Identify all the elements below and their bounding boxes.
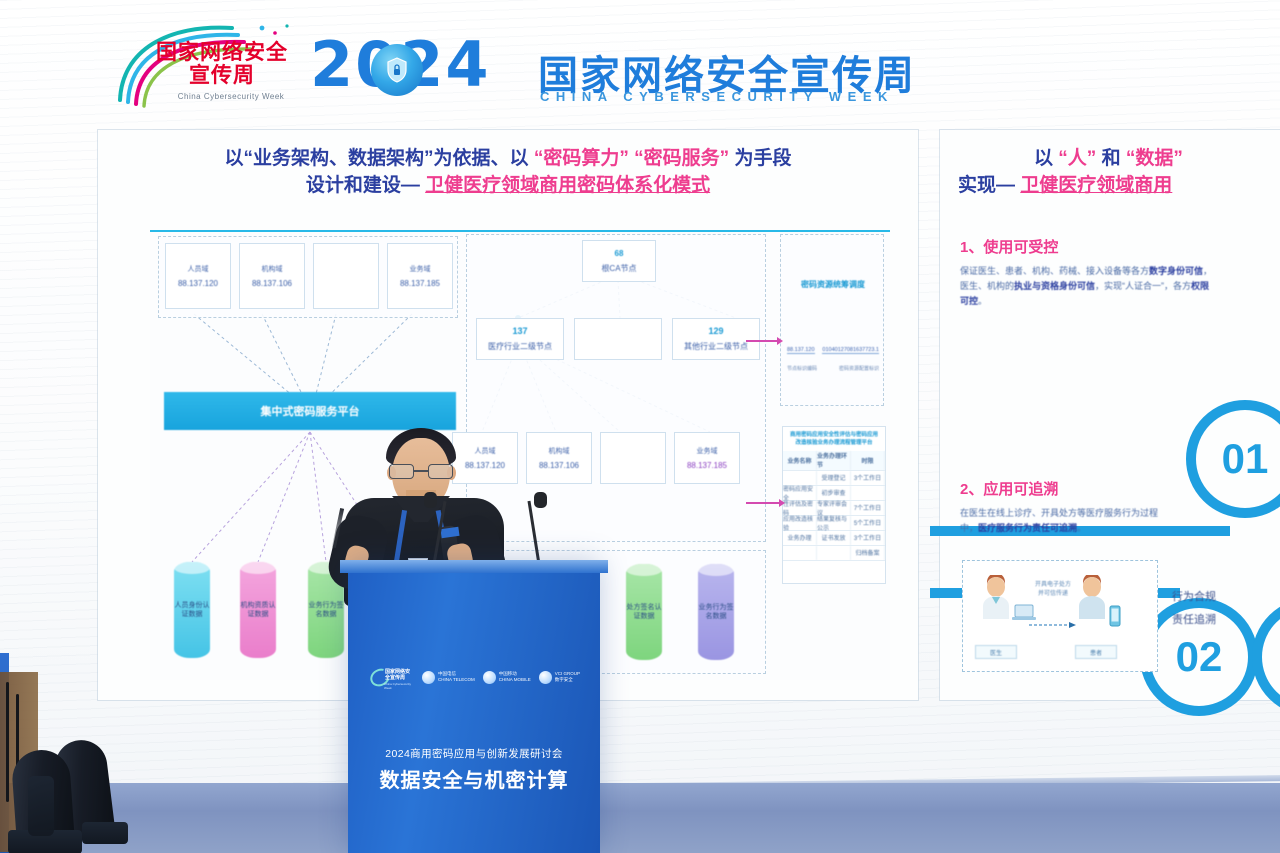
side-note-2: 责任追溯 — [1172, 609, 1216, 632]
sponsor-mark-icon — [422, 671, 435, 684]
section-02: 2、应用可追溯 在医生在线上诊疗、开具处方等医疗服务行为过程中，医疗服务行为责任… — [960, 478, 1215, 536]
tree-leaf-2 — [600, 432, 666, 484]
sponsor-name-0: 国家网络安全宣传周 — [385, 669, 414, 682]
sponsor-name-2: 中国移动 — [499, 671, 517, 676]
section-02-body: 在医生在线上诊疗、开具处方等医疗服务行为过程中，医疗服务行为责任可追溯。 — [960, 506, 1160, 536]
logo-text-badge: 国家网络安全 宣传周 — [148, 40, 296, 88]
s1-body-d: 执业与资格身份可信 — [1014, 281, 1095, 291]
table-cell: 结果复核与公示 — [817, 516, 851, 530]
slide-left-title-1c: “密码服务” — [634, 148, 729, 169]
section-01-body: 保证医生、患者、机构、药械、接入设备等各方数字身份可信，医生、机构的执业与资格身… — [960, 264, 1215, 309]
table-cell — [851, 486, 885, 500]
slide-right-title-1b: “人” — [1058, 148, 1096, 169]
logo-en-text: China Cybersecurity Week — [156, 92, 306, 101]
cylinder-left-0: 人员身份认证数据 — [174, 562, 210, 658]
sponsor-mark-icon — [483, 671, 496, 684]
right-panel-note-1: 密码资源配置标识 — [839, 365, 879, 372]
s1-body-e: ，实现“人证合一”，各方 — [1095, 281, 1191, 291]
table-cell: 5个工作日 — [851, 516, 885, 530]
slide-right-title-1c: 和 — [1102, 148, 1121, 169]
leaf-label: 机构域 — [549, 446, 570, 456]
node-label: 人员域 — [188, 264, 209, 274]
slide-right-title-2a: 实现— — [958, 175, 1015, 196]
node-label: 机构域 — [262, 264, 283, 274]
table-cell: 受理登记 — [817, 471, 851, 485]
right-panel-note-0: 节点标识编码 — [787, 365, 817, 372]
conference-stage-scene: 国家网络安全 宣传周 China Cybersecurity Week 2024… — [0, 0, 1280, 853]
leaf-value: 88.137.185 — [687, 461, 727, 470]
table-cell: 3个工作日 — [851, 531, 885, 545]
slide-left-title-1a: 以“业务架构、数据架构”为依据、以 — [225, 148, 529, 169]
table-title-line2: 改造核验业务办理流程管理平台 — [786, 439, 882, 447]
podium-theme-line: 数据安全与机密计算 — [348, 764, 600, 793]
s2-body-b: 医疗服务行为责任可追溯 — [978, 523, 1077, 533]
tree-child-label: 医疗行业二级节点 — [488, 341, 552, 352]
slide-left-title-1b: “密码算力” — [534, 148, 629, 169]
section-number-01: 01 — [1222, 435, 1269, 483]
right-resource-panel: 密码资源统筹调度 88.137.120 01040127081637723.1 … — [780, 234, 884, 406]
sponsor-name-1: 中国电信 — [438, 671, 456, 676]
slide-left-title-1d: 为手段 — [734, 148, 791, 169]
table-cell — [783, 471, 817, 485]
s1-body-a: 保证医生、患者、机构、药械、接入设备等各方 — [960, 266, 1149, 276]
sponsor-logo-3: VCI GROUP 数字安全 — [539, 671, 580, 684]
tree-leaf-3: 业务域 88.137.185 — [674, 432, 740, 484]
flow-arrow-icon — [1029, 621, 1077, 629]
speaker-podium: 国家网络安全宣传周 China Cybersecurity Week 中国电信 … — [348, 560, 600, 853]
cylinder-left-1: 机构资质认证数据 — [240, 562, 276, 658]
right-panel-value-0: 88.137.120 — [787, 347, 815, 354]
stage-light-base-back — [82, 822, 128, 844]
workflow-table: 商用密码应用安全性评估与密码应用 改造核验业务办理流程管理平台 业务名称 业务办… — [782, 426, 886, 584]
table-cell: 性评估及密码 — [783, 501, 817, 515]
tree-child-count: 137 — [512, 326, 527, 336]
table-cell — [817, 546, 851, 560]
slide-right-title-1a: 以 — [1034, 148, 1053, 169]
sponsor-logo-1: 中国电信 CHINA TELECOM — [422, 671, 475, 684]
node-top-1: 机构域 88.137.106 — [239, 243, 305, 309]
podium-mic-head-left — [424, 492, 437, 508]
sponsor-sub-2: CHINA MOBILE — [499, 677, 531, 682]
smartphone-icon — [1109, 605, 1121, 627]
transfer-note-line1: 开具电子处方 — [1035, 582, 1071, 588]
left-cluster-panel: 人员域 88.137.120 机构域 88.137.106 业务域 88.137… — [158, 236, 458, 318]
sponsor-logo-cybersecurity-week: 国家网络安全宣传周 China Cybersecurity Week — [370, 665, 414, 689]
cylinder-mid-3: 业务行为签名数据 — [698, 564, 734, 660]
sponsor-name-3: VCI GROUP — [555, 671, 580, 676]
tree-root-count: 68 — [615, 249, 624, 258]
table-cell: 证书发放 — [817, 531, 851, 545]
tree-child-0: 137 医疗行业二级节点 — [476, 318, 564, 360]
traceability-illustration: 开具电子处方 并可信传递 医生 患者 — [962, 560, 1158, 672]
table-cell: 业务办理 — [783, 531, 817, 545]
tree-child-count: 129 — [708, 326, 723, 336]
slide-right-title-2b: 卫健医疗领域商用 — [1020, 175, 1172, 196]
table-cell: 3个工作日 — [851, 471, 885, 485]
slide-left-title-2b: 卫健医疗领域商用密码体系化模式 — [425, 175, 710, 196]
persona-tag-patient: 患者 — [1075, 645, 1117, 659]
s2-body-c: 。 — [1077, 523, 1086, 533]
section-badge-03-partial — [1252, 598, 1280, 716]
table-cell: 专家评审会议 — [817, 501, 851, 515]
arrow-to-table — [746, 502, 780, 504]
power-cable-1 — [6, 682, 9, 802]
tree-child-2: 129 其他行业二级节点 — [672, 318, 760, 360]
cybersecurity-week-logo: 国家网络安全 宣传周 China Cybersecurity Week — [112, 22, 302, 114]
tree-root-node: 68 根CA节点 — [582, 240, 656, 282]
table-cell: 初步审查 — [817, 486, 851, 500]
sponsor-sub-1: CHINA TELECOM — [438, 677, 475, 682]
stage-light-yoke — [28, 776, 54, 836]
arrow-to-right-panel — [746, 340, 778, 342]
slide-right-title: 以 “人” 和 “数据” 实现— 卫健医疗领域商用 — [940, 130, 1280, 200]
sponsor-mark-icon — [539, 671, 552, 684]
s1-body-b: 数字身份可信 — [1149, 266, 1203, 276]
laptop-icon — [1011, 603, 1037, 623]
podium-conference-line: 2024商用密码应用与创新发展研讨会 — [348, 746, 600, 761]
table-header-cell: 业务名称 — [783, 451, 817, 470]
transfer-note: 开具电子处方 并可信传递 — [1025, 579, 1081, 597]
right-panel-value-1: 01040127081637723.1 — [822, 347, 879, 354]
table-row: 应用改造核验 结果复核与公示 5个工作日 — [783, 516, 885, 531]
table-header-cell: 业务办理环节 — [817, 451, 851, 470]
slide-left-title-2a: 设计和建设— — [306, 175, 420, 196]
doctor-avatar-icon — [979, 575, 1013, 619]
table-header-cell: 时限 — [851, 451, 885, 470]
sponsor-sub-0: China Cybersecurity Week — [384, 682, 414, 690]
event-branding-header: 国家网络安全 宣传周 China Cybersecurity Week 2024… — [0, 0, 1280, 128]
transfer-note-line2: 并可信传递 — [1038, 591, 1068, 597]
tree-root-label: 根CA节点 — [601, 263, 636, 274]
shield-lock-icon — [371, 44, 423, 96]
podium-sponsor-logos: 国家网络安全宣传周 China Cybersecurity Week 中国电信 … — [370, 664, 580, 690]
slide-right: 以 “人” 和 “数据” 实现— 卫健医疗领域商用 01 02 — [940, 130, 1280, 200]
moving-head-stage-lights — [0, 672, 204, 853]
node-top-3: 业务域 88.137.185 — [387, 243, 453, 309]
traceability-side-notes: 行为合规 责任追溯 — [1172, 586, 1216, 632]
sponsor-sub-3: 数字安全 — [555, 677, 573, 682]
logo-cn-line2: 宣传周 — [189, 65, 255, 86]
slide-left: 以“业务架构、数据架构”为依据、以 “密码算力” “密码服务” 为手段 设计和建… — [98, 130, 918, 200]
table-cell: 应用改造核验 — [783, 516, 817, 530]
node-value: 88.137.106 — [252, 279, 292, 288]
section-01: 1、使用可受控 保证医生、患者、机构、药械、接入设备等各方数字身份可信，医生、机… — [960, 236, 1215, 309]
table-cell: 7个工作日 — [851, 501, 885, 515]
table-header-row: 业务名称 业务办理环节 时限 — [783, 451, 885, 471]
node-top-2 — [313, 243, 379, 309]
slide-left-title: 以“业务架构、数据架构”为依据、以 “密码算力” “密码服务” 为手段 设计和建… — [98, 130, 918, 200]
sponsor-logo-2: 中国移动 CHINA MOBILE — [483, 671, 531, 684]
lens-right — [428, 464, 453, 479]
podium-mic-head-right — [534, 492, 547, 508]
table-row: 归档备案 — [783, 546, 885, 561]
s1-body-g: 。 — [978, 296, 987, 306]
lens-left — [389, 464, 414, 479]
projection-screen-right: 以 “人” 和 “数据” 实现— 卫健医疗领域商用 01 02 — [940, 130, 1280, 700]
cylinder-mid-2: 处方签名认证数据 — [626, 564, 662, 660]
table-cell — [783, 546, 817, 560]
table-cell: 密码应用安全 — [783, 486, 817, 500]
section-number-02: 02 — [1176, 633, 1223, 681]
podium-top-lip — [340, 560, 608, 573]
side-note-1: 行为合规 — [1172, 586, 1216, 609]
tree-child-label: 其他行业二级节点 — [684, 341, 748, 352]
node-value: 88.137.185 — [400, 279, 440, 288]
table-title-line1: 商用密码应用安全性评估与密码应用 — [786, 431, 882, 439]
leaf-label: 业务域 — [697, 446, 718, 456]
right-panel-title: 密码资源统筹调度 — [787, 279, 879, 291]
table-row: 业务办理 证书发放 3个工作日 — [783, 531, 885, 546]
node-top-0: 人员域 88.137.120 — [165, 243, 231, 309]
glasses-icon — [389, 464, 453, 479]
leaf-value: 88.137.106 — [539, 461, 579, 470]
section-01-heading: 1、使用可受控 — [960, 236, 1215, 257]
persona-tag-doctor: 医生 — [975, 645, 1017, 659]
logo-cn-line1: 国家网络安全 — [156, 42, 288, 63]
shield-lock-glyph — [386, 57, 408, 83]
glasses-bridge — [414, 470, 428, 472]
table-cell: 归档备案 — [851, 546, 885, 560]
event-title-en: CHINA CYBERSECURITY WEEK — [540, 89, 894, 104]
section-02-heading: 2、应用可追溯 — [960, 478, 1215, 499]
node-label: 业务域 — [410, 264, 431, 274]
slide-right-title-1d: “数据” — [1126, 148, 1183, 169]
tree-child-1 — [574, 318, 662, 360]
node-value: 88.137.120 — [178, 279, 218, 288]
